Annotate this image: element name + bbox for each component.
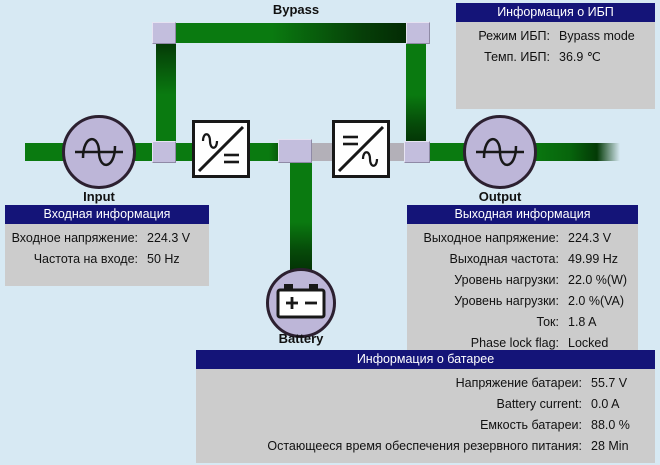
table-row: Напряжение батареи: 55.7 V [202,373,647,394]
row-value: 0.0 A [591,394,647,415]
row-label: Частота на входе: [11,249,147,270]
input-info-panel: Входная информация Входное напряжение: 2… [5,205,209,286]
battery-icon [269,271,333,335]
bypass-label: Bypass [236,2,356,17]
output-node[interactable] [463,115,537,189]
row-label: Выходная частота: [413,249,568,270]
row-value: 50 Hz [147,249,201,270]
row-label: Выходное напряжение: [413,228,568,249]
connector-output-tap [404,141,430,163]
table-row: Уровень нагрузки: 22.0 %(W) [413,270,630,291]
battery-info-rows: Напряжение батареи: 55.7 V Battery curre… [196,369,655,457]
input-info-title: Входная информация [5,205,209,224]
table-row: Ток: 1.8 A [413,312,630,333]
ac-source-icon [65,118,133,186]
input-label: Input [49,189,149,204]
row-label: Входное напряжение: [11,228,147,249]
row-label: Режим ИБП: [462,26,559,47]
row-label: Темп. ИБП: [462,47,559,68]
row-value: 49.99 Hz [568,249,630,270]
ups-info-rows: Режим ИБП: Bypass mode Темп. ИБП: 36.9 ℃ [456,22,655,68]
row-label: Уровень нагрузки: [413,291,568,312]
row-value: 88.0 % [591,415,647,436]
inverter-dc-ac-icon [335,123,387,175]
table-row: Остающееся время обеспечения резервного … [202,436,647,457]
ups-info-title: Информация о ИБП [456,3,655,22]
row-value: 224.3 V [568,228,630,249]
table-row: Режим ИБП: Bypass mode [462,26,647,47]
output-label: Output [450,189,550,204]
battery-branch-line [290,158,312,274]
connector-bypass-top-right [406,22,430,44]
output-info-rows: Выходное напряжение: 224.3 V Выходная ча… [407,224,638,352]
table-row: Уровень нагрузки: 2.0 %(VA) [413,291,630,312]
connector-input-tap [152,141,176,163]
battery-info-title: Информация о батарее [196,350,655,369]
battery-label: Battery [251,331,351,346]
row-label: Емкость батареи: [202,415,591,436]
table-row: Темп. ИБП: 36.9 ℃ [462,47,647,68]
input-info-rows: Входное напряжение: 224.3 V Частота на в… [5,224,209,270]
connector-dc-bus [278,139,312,163]
row-label: Battery current: [202,394,591,415]
row-value: 22.0 %(W) [568,270,630,291]
table-row: Battery current: 0.0 A [202,394,647,415]
output-info-title: Выходная информация [407,205,638,224]
row-value: Bypass mode [559,26,647,47]
bypass-line [168,23,416,43]
row-value: 224.3 V [147,228,201,249]
battery-node[interactable] [266,268,336,338]
table-row: Емкость батареи: 88.0 % [202,415,647,436]
rectifier-ac-dc-icon [195,123,247,175]
row-label: Ток: [413,312,568,333]
table-row: Частота на входе: 50 Hz [11,249,201,270]
rectifier-block[interactable] [192,120,250,178]
row-label: Уровень нагрузки: [413,270,568,291]
row-value: 28 Min [591,436,647,457]
ac-source-icon [466,118,534,186]
table-row: Входное напряжение: 224.3 V [11,228,201,249]
inverter-block[interactable] [332,120,390,178]
output-info-panel: Выходная информация Выходное напряжение:… [407,205,638,352]
ups-status-screen: Bypass Input [0,0,660,465]
row-label: Остающееся время обеспечения резервного … [202,436,591,457]
row-label: Напряжение батареи: [202,373,591,394]
row-value: 36.9 ℃ [559,47,647,68]
connector-bypass-top-left [152,22,176,44]
bypass-right-riser [406,30,426,148]
table-row: Выходное напряжение: 224.3 V [413,228,630,249]
bypass-left-riser [156,30,176,148]
input-node[interactable] [62,115,136,189]
row-value: 2.0 %(VA) [568,291,630,312]
row-value: 1.8 A [568,312,630,333]
row-value: 55.7 V [591,373,647,394]
ups-info-panel: Информация о ИБП Режим ИБП: Bypass mode … [456,3,655,109]
battery-info-panel: Информация о батарее Напряжение батареи:… [196,350,655,463]
table-row: Выходная частота: 49.99 Hz [413,249,630,270]
output-feeder-line [528,143,620,161]
